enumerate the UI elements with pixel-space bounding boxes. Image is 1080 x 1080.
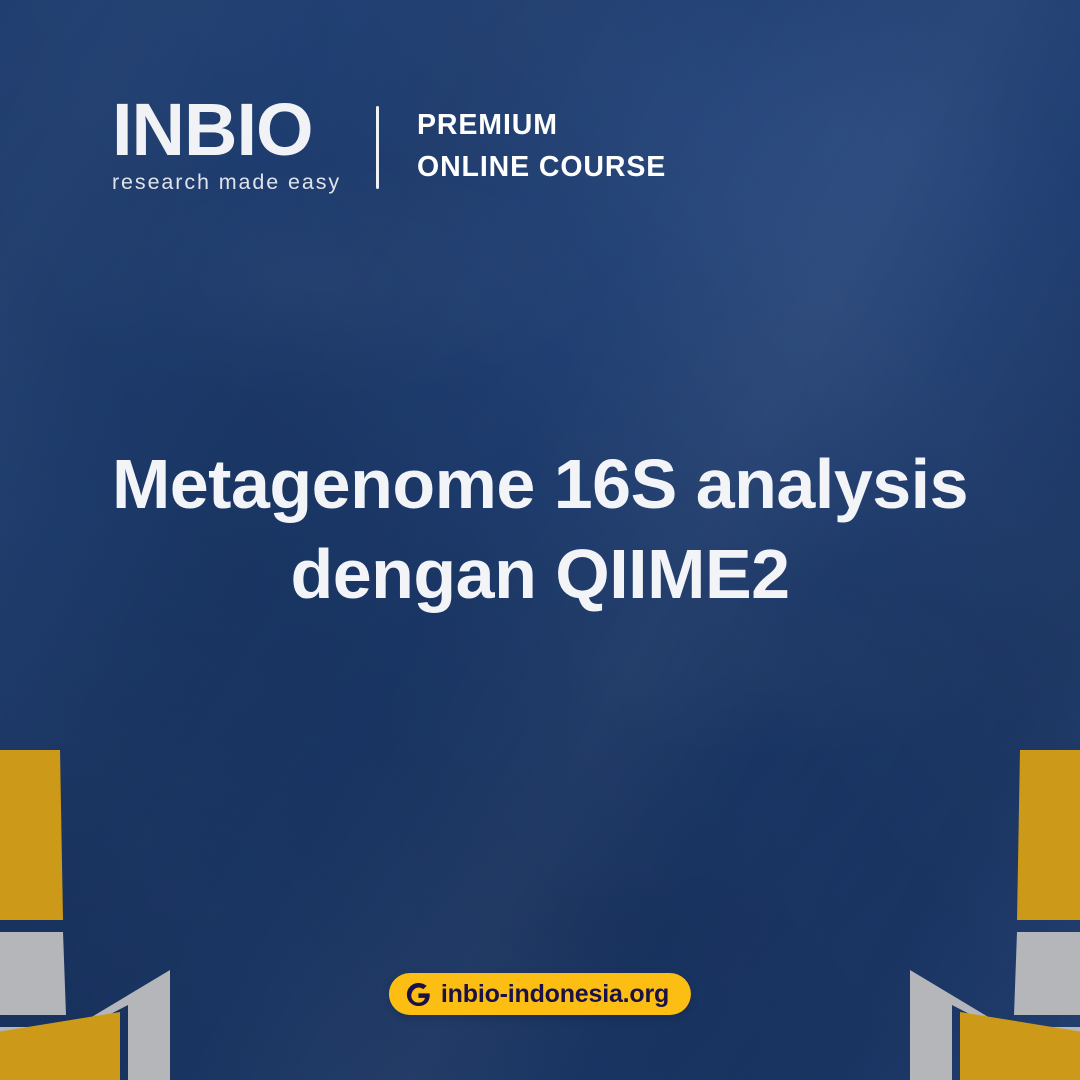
header-lockup: INBIO research made easy PREMIUM ONLINE … (112, 96, 666, 195)
gray-bar-upper (1014, 932, 1080, 1015)
gold-field-lower (960, 1012, 1080, 1080)
brand-logo: INBIO research made easy (112, 96, 341, 195)
decoration-shapes-right (780, 720, 1080, 1080)
decoration-shapes-left (0, 720, 300, 1080)
website-url: inbio-indonesia.org (441, 980, 669, 1009)
title-line-1: Metagenome 16S analysis (96, 440, 984, 530)
course-kicker: PREMIUM ONLINE COURSE (417, 96, 666, 195)
gold-field-lower (0, 1012, 120, 1080)
gold-bar-upper (0, 750, 63, 920)
page-title: Metagenome 16S analysis dengan QIIME2 (0, 440, 1080, 619)
google-g-icon (405, 981, 432, 1008)
title-line-2: dengan QIIME2 (96, 530, 984, 620)
kicker-line-online-course: ONLINE COURSE (417, 147, 666, 188)
gray-bar-upper (0, 932, 66, 1015)
decoration-bottom-right (780, 720, 1080, 1080)
decoration-bottom-left (0, 720, 300, 1080)
brand-tagline: research made easy (112, 170, 341, 195)
header-divider (376, 106, 379, 189)
kicker-line-premium: PREMIUM (417, 105, 666, 146)
brand-name: INBIO (112, 96, 341, 164)
website-badge[interactable]: inbio-indonesia.org (389, 973, 691, 1015)
gold-bar-upper (1017, 750, 1080, 920)
course-promo-poster: INBIO research made easy PREMIUM ONLINE … (0, 0, 1080, 1080)
